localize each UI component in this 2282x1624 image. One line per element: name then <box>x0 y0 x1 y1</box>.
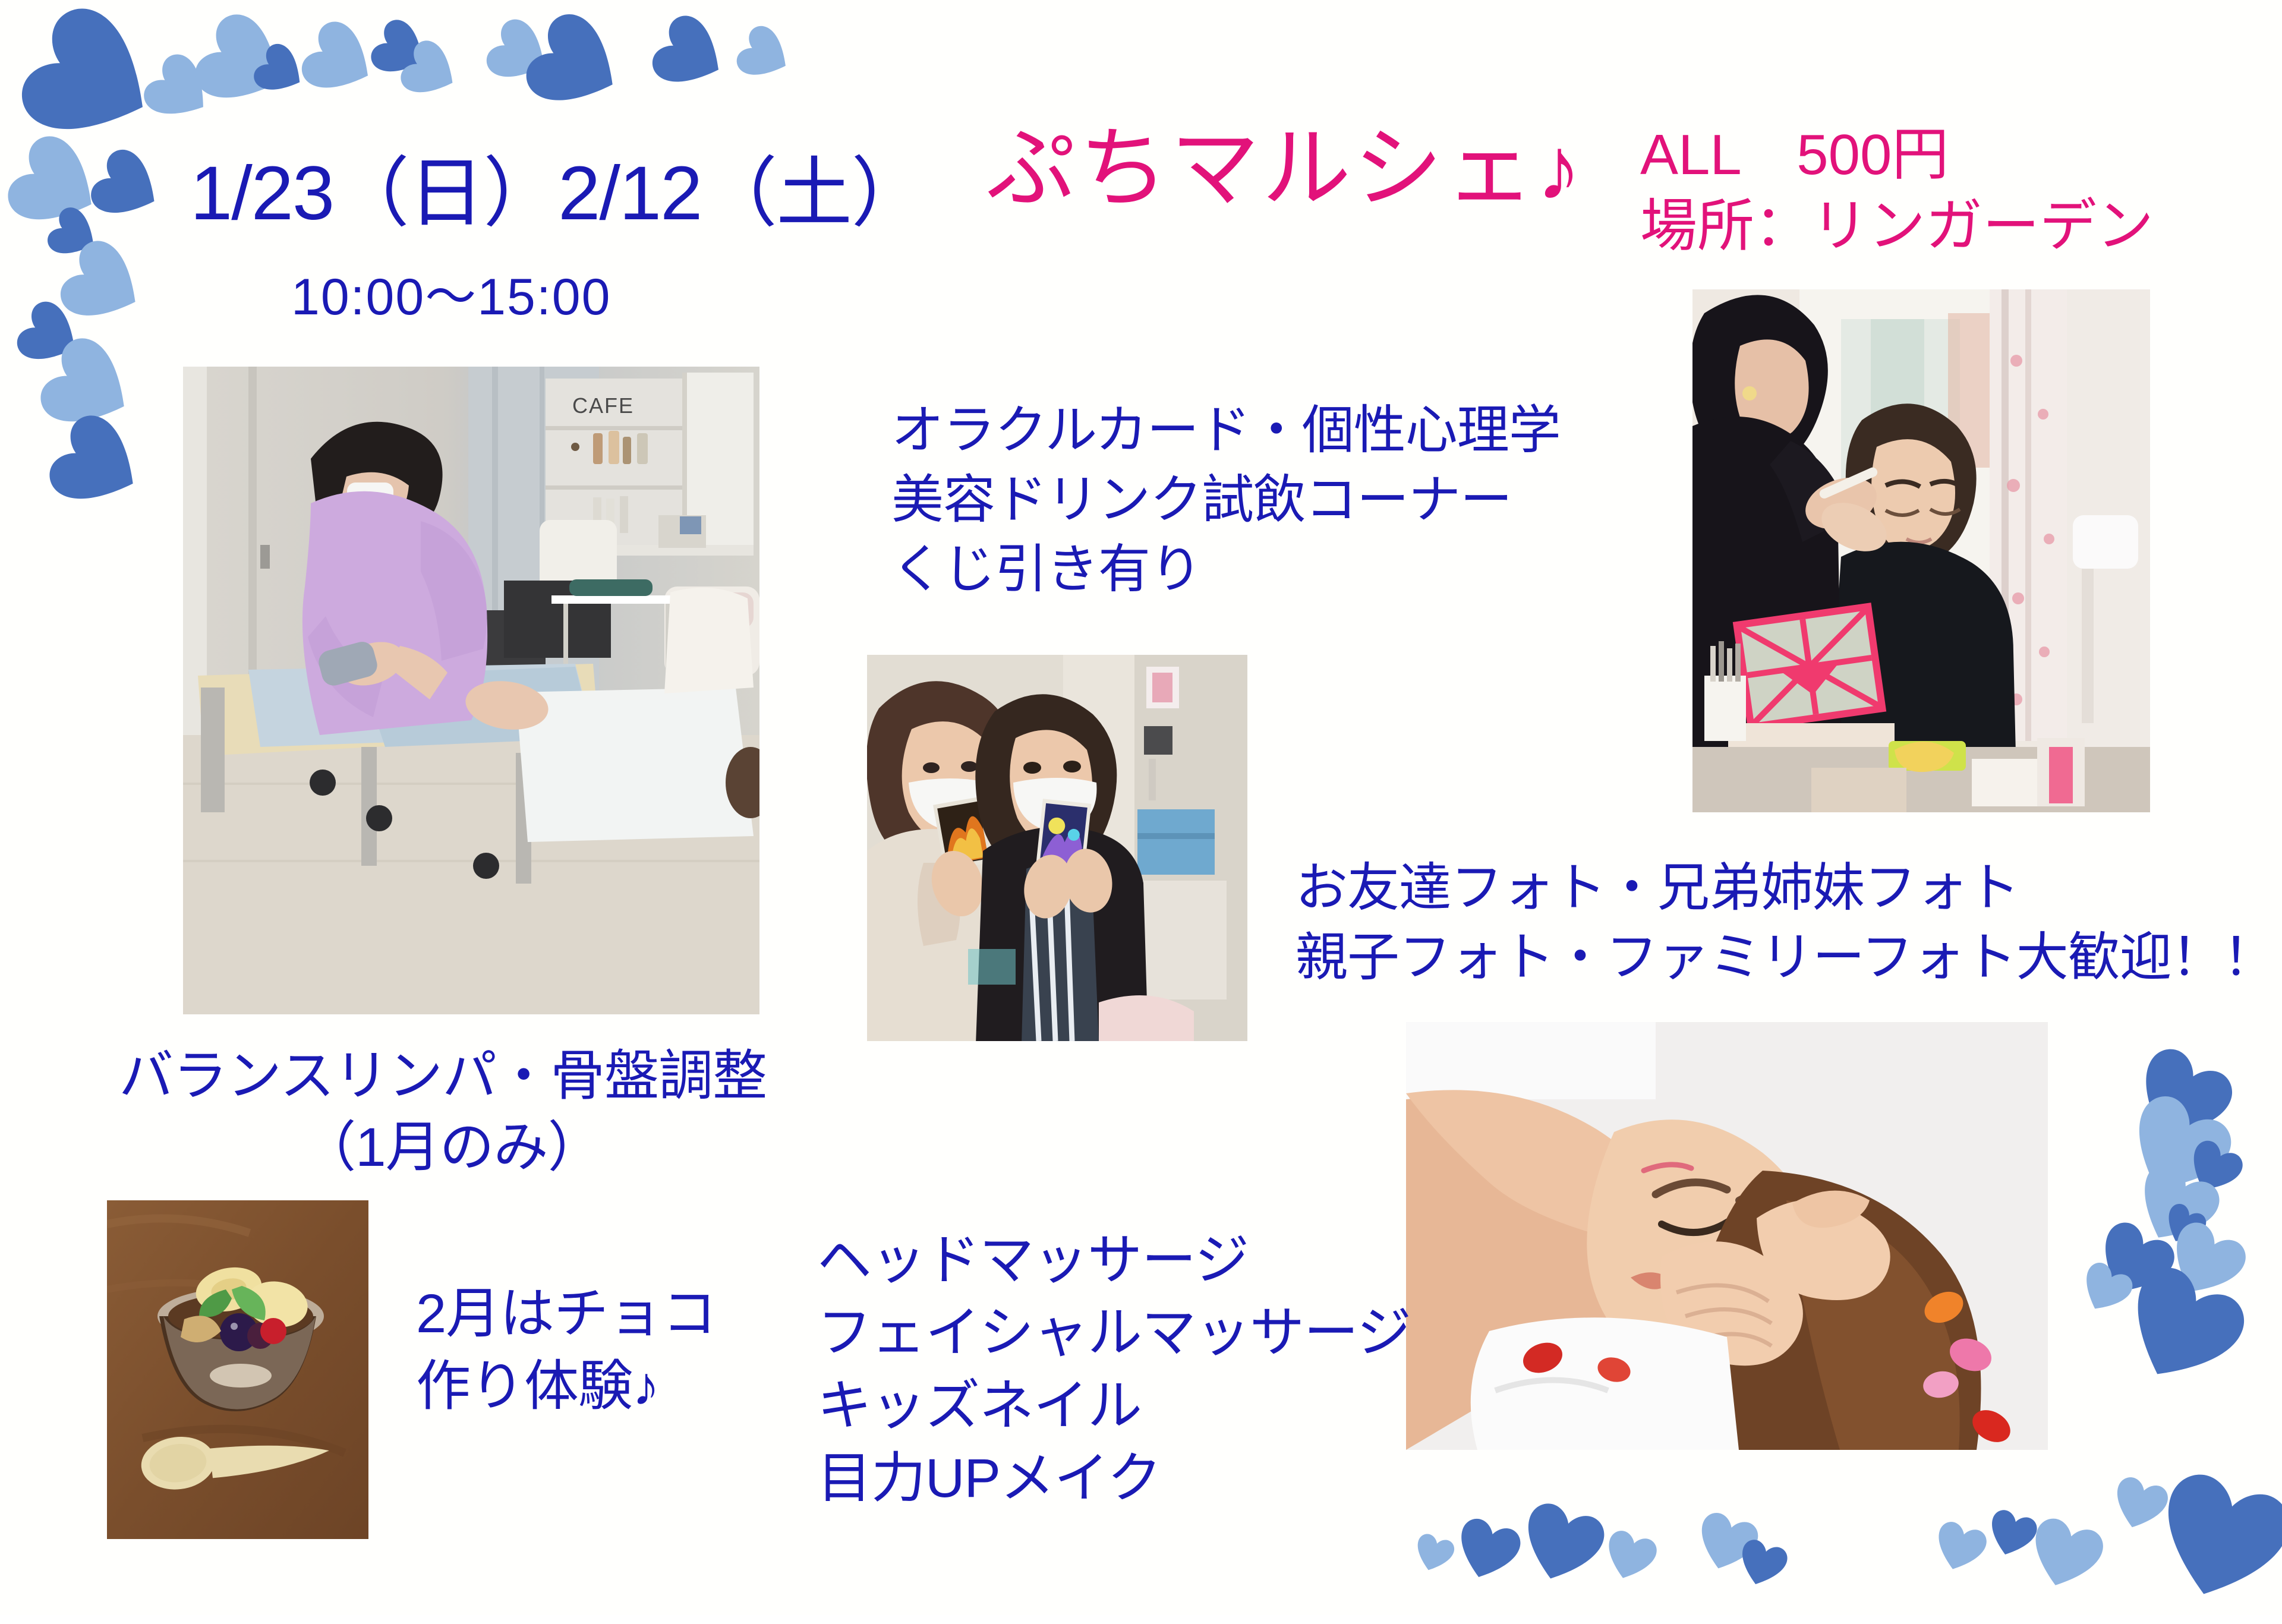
massage-menu-text: ヘッドマッサージ フェイシャルマッサージ キッズネイル 目力UPメイク <box>817 1224 1411 1515</box>
heart-icon <box>643 6 738 103</box>
oracle-services-text: オラクルカード・個性心理学 美容ドリンク試飲コーナー くじ引き有り <box>891 395 1561 604</box>
page-title: ぷちマルシェ♪ <box>986 116 1584 221</box>
svg-text:CAFE: CAFE <box>572 393 634 418</box>
place-label: 場所：リンガーデン <box>1640 190 2154 263</box>
facial-massage-photo <box>1406 1022 2048 1450</box>
dessert-cup-photo <box>107 1200 368 1539</box>
event-time: 10:00～15:00 <box>291 267 611 327</box>
photo-services-text: お友達フォト・兄弟姉妹フォト 親子フォト・ファミリーフォト大歓迎！！ <box>1296 853 2275 992</box>
balance-lymph-caption: バランスリンパ・骨盤調整 <box>119 1040 767 1112</box>
heart-icon <box>730 18 801 92</box>
balance-lymph-caption-sub: （1月のみ） <box>119 1111 784 1184</box>
event-dates: 1/23（日）2/12（土） <box>190 149 926 238</box>
two-women-with-cards-photo <box>867 655 1247 1041</box>
choco-experience-text: 2月はチョコ 作り体験♪ <box>416 1278 716 1423</box>
poster-canvas: CAFE <box>0 0 2282 1615</box>
heart-icon <box>1448 1510 1527 1591</box>
price-label: ALL 500円 <box>1640 119 1949 192</box>
massage-table-photo: CAFE <box>183 367 759 1014</box>
heart-icon <box>515 2 638 128</box>
makeup-session-photo <box>1692 289 2150 812</box>
heart-icon <box>1511 1493 1613 1597</box>
